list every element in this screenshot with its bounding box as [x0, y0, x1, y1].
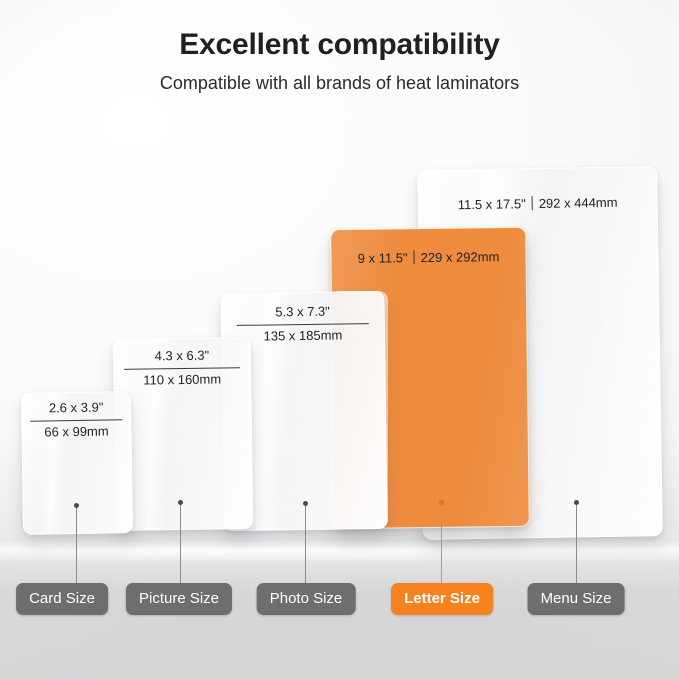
separator-bar-icon	[532, 196, 533, 210]
pouch-picture-mm: 110 x 160mm	[121, 371, 243, 389]
pouch-card[interactable]: 2.6 x 3.9" 66 x 99mm	[21, 391, 133, 535]
connector-line-card	[76, 506, 77, 585]
pouch-card-mm: 66 x 99mm	[27, 423, 125, 441]
pouch-picture-inches: 4.3 x 6.3"	[121, 347, 243, 367]
pouch-card-dimensions: 2.6 x 3.9" 66 x 99mm	[21, 399, 132, 441]
connector-line-menu	[576, 503, 577, 585]
pouch-photo-inches: 5.3 x 7.3"	[231, 303, 375, 324]
label-pill-menu[interactable]: Menu Size	[528, 583, 625, 615]
anchor-dot-menu	[574, 500, 579, 505]
label-pill-picture[interactable]: Picture Size	[126, 583, 232, 615]
pouch-group: 11.5 x 17.5"292 x 444mm 9 x 11.5"229 x 2…	[0, 0, 679, 679]
anchor-dot-picture	[178, 500, 183, 505]
pouch-letter-inches: 9 x 11.5"	[358, 250, 408, 266]
pouch-menu-inches: 11.5 x 17.5"	[458, 196, 526, 212]
anchor-dot-photo	[303, 501, 308, 506]
label-group: Card Size Picture Size Photo Size Letter…	[0, 583, 679, 619]
connector-line-photo	[305, 504, 306, 585]
pouch-letter-dimensions: 9 x 11.5"229 x 292mm	[330, 249, 526, 268]
infographic-canvas: Excellent compatibility Compatible with …	[0, 0, 679, 679]
pouch-menu-mm: 292 x 444mm	[539, 195, 618, 211]
dimension-divider-icon	[124, 367, 240, 370]
label-pill-card[interactable]: Card Size	[16, 583, 108, 615]
connector-line-picture	[180, 503, 181, 585]
label-pill-photo[interactable]: Photo Size	[257, 583, 356, 615]
pouch-letter-mm: 229 x 292mm	[420, 249, 499, 265]
label-pill-letter[interactable]: Letter Size	[391, 583, 493, 615]
anchor-dot-card	[74, 503, 79, 508]
separator-bar-icon	[413, 250, 414, 264]
pouch-picture-dimensions: 4.3 x 6.3" 110 x 160mm	[113, 347, 252, 389]
pouch-card-inches: 2.6 x 3.9"	[27, 399, 125, 419]
pouch-photo-mm: 135 x 185mm	[231, 327, 375, 346]
anchor-dot-letter	[439, 500, 444, 505]
connector-line-letter	[441, 503, 442, 585]
dimension-divider-icon	[30, 419, 122, 421]
pouch-picture[interactable]: 4.3 x 6.3" 110 x 160mm	[113, 337, 254, 531]
